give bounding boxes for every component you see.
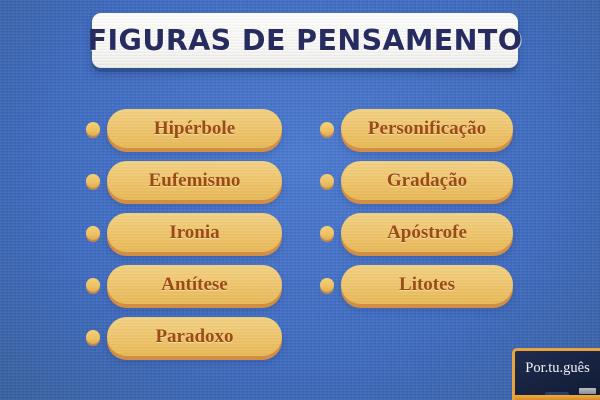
list-item[interactable]: Eufemismo <box>86 160 282 201</box>
figure-pill[interactable]: Hipérbole <box>107 109 282 148</box>
bullet-dot-icon <box>320 226 334 240</box>
bullet-dot-icon <box>86 122 100 136</box>
figure-label: Eufemismo <box>149 170 241 192</box>
figure-pill[interactable]: Apóstrofe <box>341 213 513 252</box>
list-item[interactable]: Hipérbole <box>86 108 282 149</box>
bullet-dot-icon <box>320 278 334 292</box>
list-item[interactable]: Gradação <box>320 160 513 201</box>
figure-label: Paradoxo <box>155 326 233 348</box>
brand-logo-chalkboard[interactable]: Por.tu.guês <box>512 348 600 400</box>
list-item[interactable]: Paradoxo <box>86 316 282 357</box>
figure-pill[interactable]: Paradoxo <box>107 317 282 356</box>
list-item[interactable]: Antítese <box>86 264 282 305</box>
bullet-dot-icon <box>86 278 100 292</box>
poster-canvas: FIGURAS DE PENSAMENTO Hipérbole Eufemism… <box>0 0 600 400</box>
bullet-dot-icon <box>86 226 100 240</box>
list-item[interactable]: Litotes <box>320 264 513 305</box>
list-item[interactable]: Apóstrofe <box>320 212 513 253</box>
bullet-dot-icon <box>320 174 334 188</box>
bullet-dot-icon <box>86 330 100 344</box>
figure-label: Antítese <box>161 274 227 296</box>
figure-pill[interactable]: Antítese <box>107 265 282 304</box>
bullet-dot-icon <box>86 174 100 188</box>
title-banner: FIGURAS DE PENSAMENTO <box>92 13 518 68</box>
figure-pill[interactable]: Litotes <box>341 265 513 304</box>
page-title: FIGURAS DE PENSAMENTO <box>88 24 523 57</box>
figure-label: Gradação <box>387 170 467 192</box>
list-item[interactable]: Ironia <box>86 212 282 253</box>
figures-column-right: Personificação Gradação Apóstrofe Litote… <box>320 108 513 316</box>
eraser-icon <box>579 388 596 394</box>
figure-pill[interactable]: Personificação <box>341 109 513 148</box>
chalk-ledge <box>515 395 600 400</box>
figure-pill[interactable]: Eufemismo <box>107 161 282 200</box>
figures-column-left: Hipérbole Eufemismo Ironia Antítese Para <box>86 108 282 368</box>
figure-label: Apóstrofe <box>387 222 467 244</box>
figure-pill[interactable]: Ironia <box>107 213 282 252</box>
brand-logo-label: Por.tu.guês <box>515 360 600 377</box>
figure-pill[interactable]: Gradação <box>341 161 513 200</box>
figure-label: Hipérbole <box>154 118 235 140</box>
figure-label: Ironia <box>169 222 219 244</box>
figure-label: Litotes <box>399 274 455 296</box>
figure-label: Personificação <box>368 118 486 140</box>
bullet-dot-icon <box>320 122 334 136</box>
list-item[interactable]: Personificação <box>320 108 513 149</box>
